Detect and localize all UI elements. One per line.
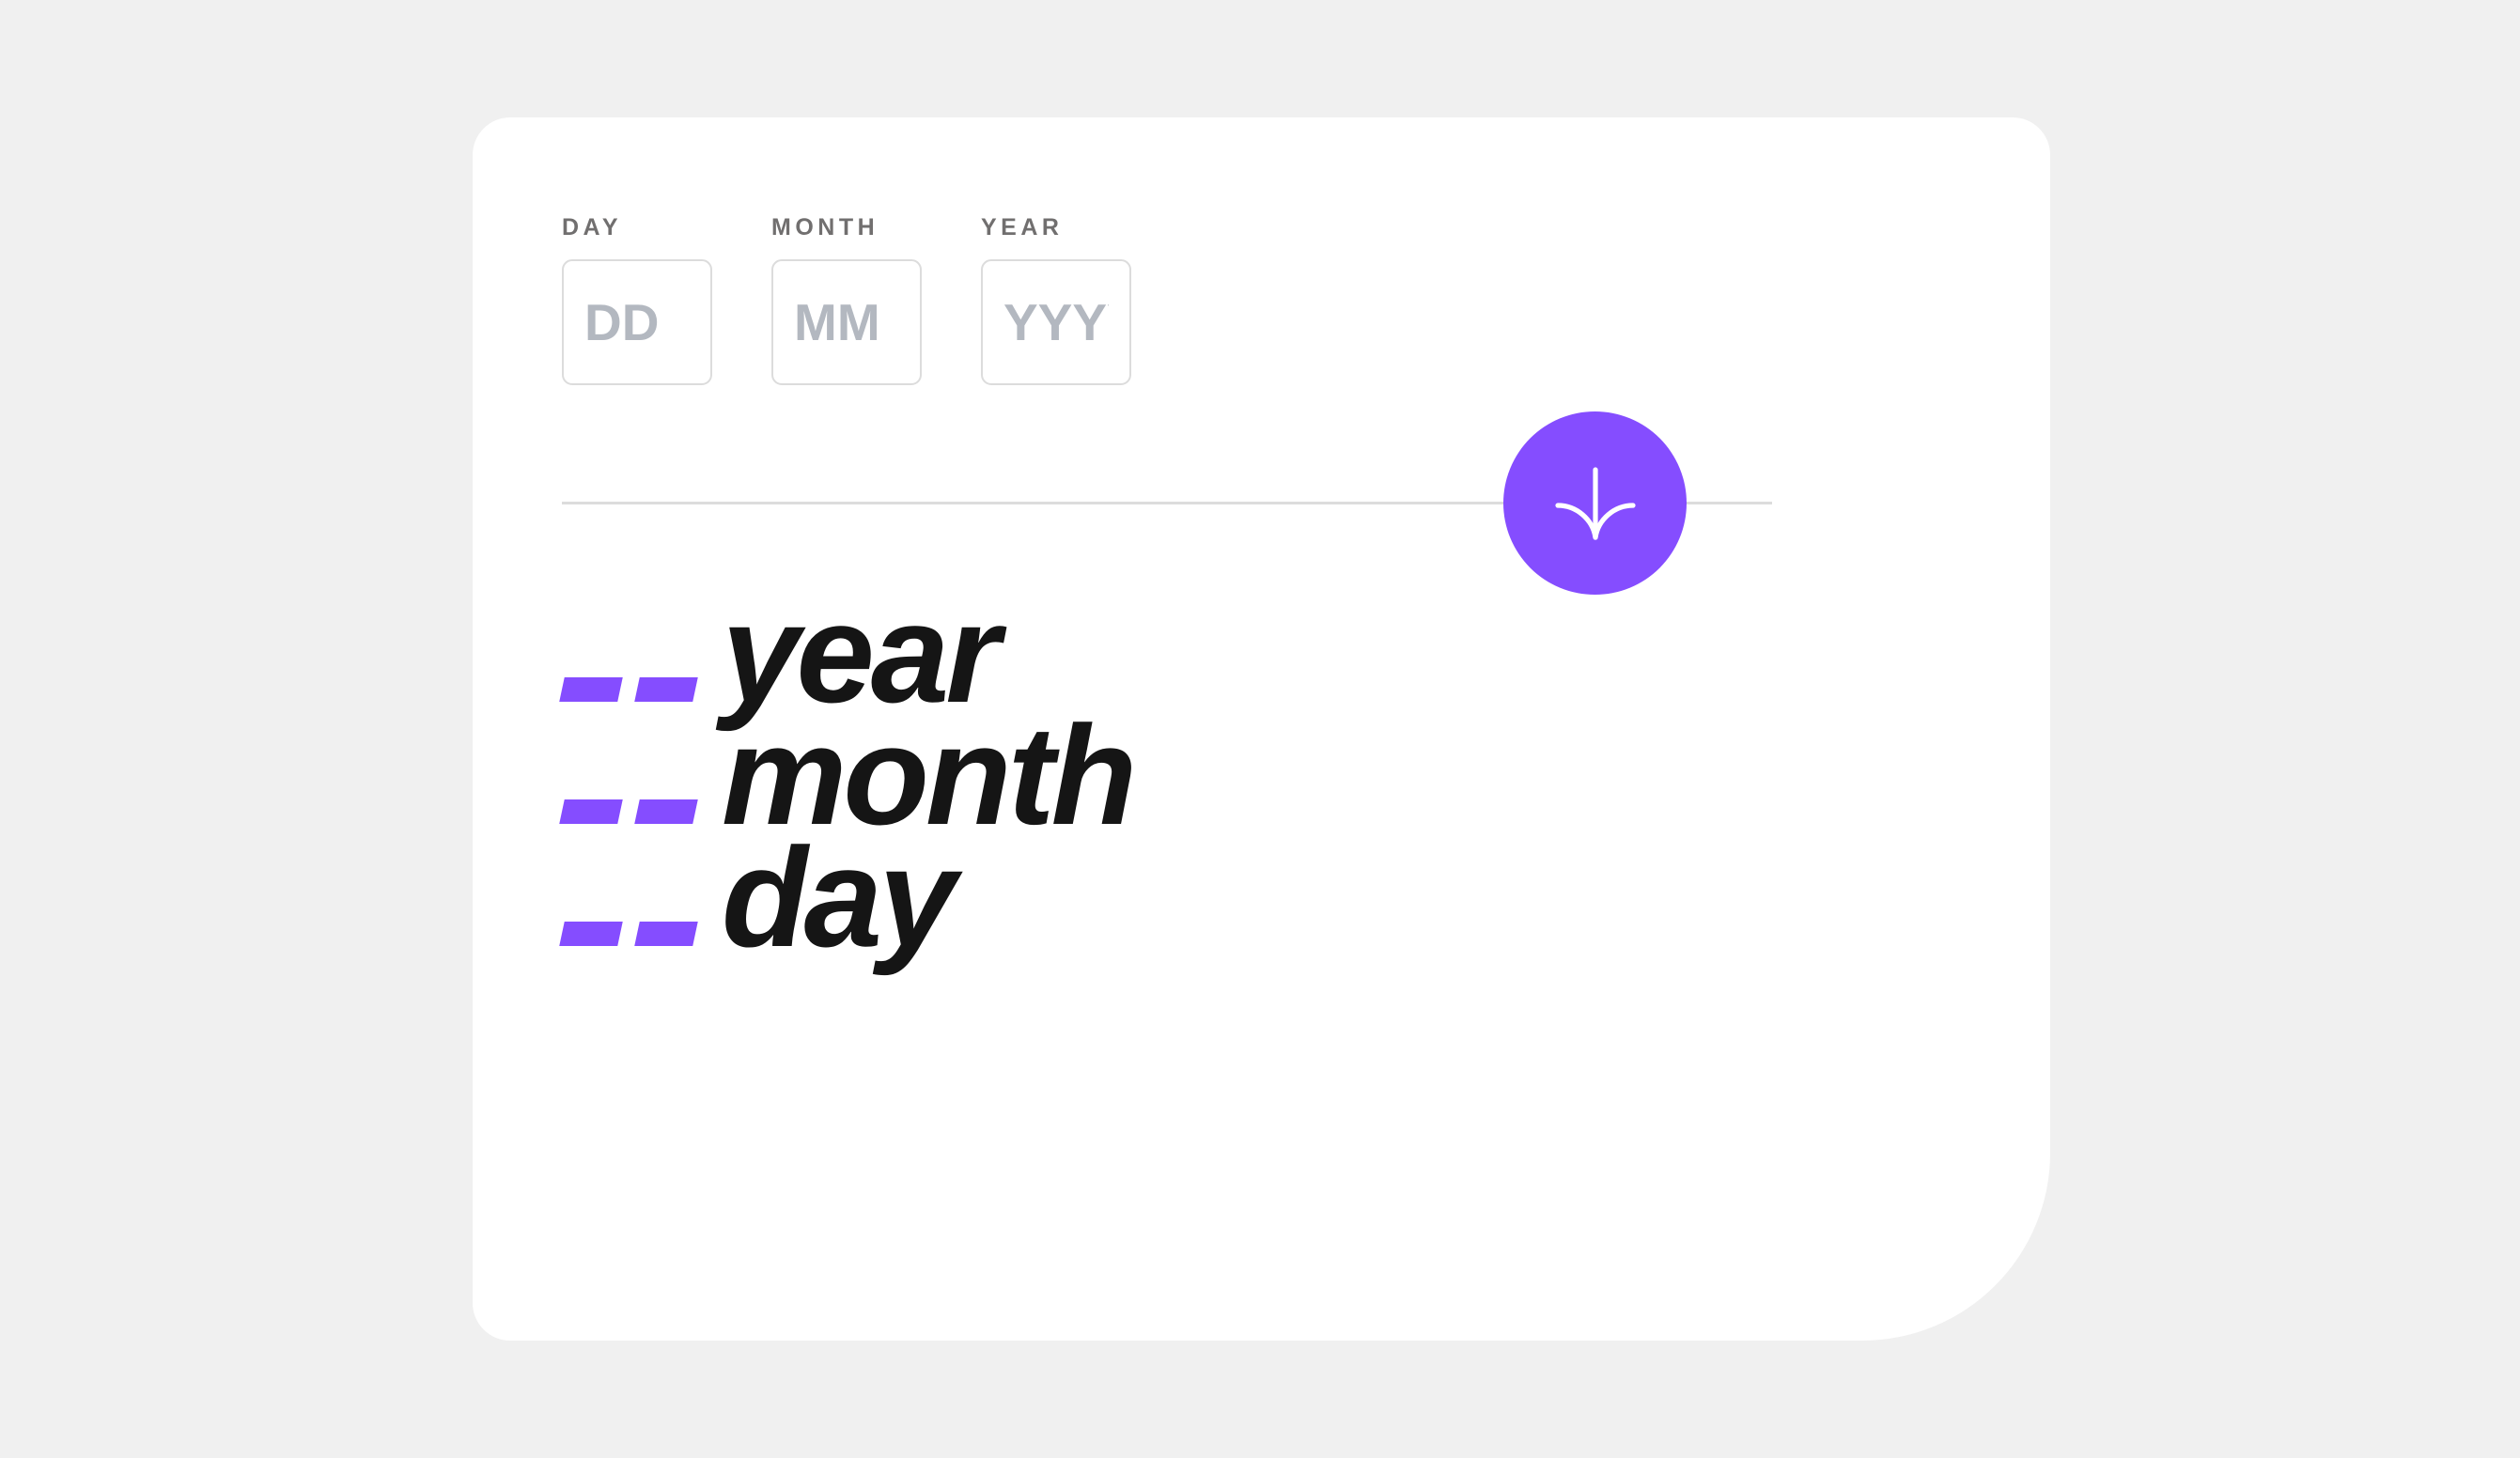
field-year: YEAR (981, 216, 1131, 385)
age-results: year month day (562, 592, 1133, 958)
year-label: YEAR (981, 216, 1131, 240)
age-calculator-card: DAY MONTH YEAR (473, 117, 2050, 1341)
dash-glyph (559, 677, 623, 702)
dash-glyph (634, 799, 698, 824)
years-value (559, 677, 698, 702)
day-label: DAY (562, 216, 712, 240)
year-input[interactable] (981, 259, 1131, 385)
month-label: MONTH (771, 216, 922, 240)
dash-glyph (634, 922, 698, 946)
day-input[interactable] (562, 259, 712, 385)
arrow-down-icon (1552, 460, 1639, 547)
submit-button[interactable] (1503, 411, 1687, 595)
date-input-form: DAY MONTH YEAR (562, 216, 1131, 385)
age-calculator-page: { "theme": { "page_background": "#f0f0f0… (0, 0, 2520, 1458)
field-month: MONTH (771, 216, 922, 385)
month-input[interactable] (771, 259, 922, 385)
dash-glyph (634, 677, 698, 702)
dash-glyph (559, 799, 623, 824)
result-row-days: day (562, 836, 1133, 958)
field-day: DAY (562, 216, 712, 385)
days-value (559, 922, 698, 946)
days-unit: day (722, 836, 953, 958)
months-value (559, 799, 698, 824)
dash-glyph (559, 922, 623, 946)
